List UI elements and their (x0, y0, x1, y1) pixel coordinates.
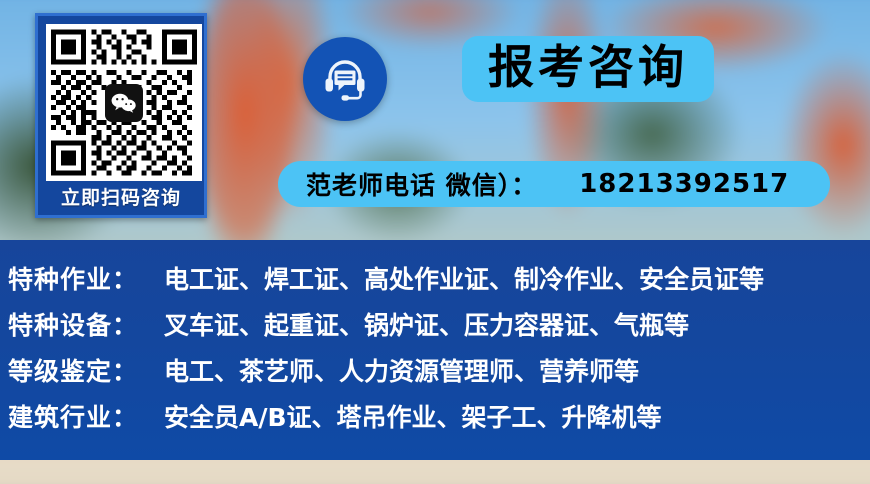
wechat-bubbles-glyph (111, 93, 137, 113)
service-row: 建筑行业： 安全员A/B证、塔吊作业、架子工、升降机等 (8, 398, 870, 444)
contact-pill[interactable]: 范老师电话 微信）： 18213392517 (278, 161, 830, 207)
title-pill: 报考咨询 (462, 36, 714, 102)
qr-code-image[interactable] (46, 24, 202, 181)
headset-support-icon (319, 53, 371, 105)
service-row: 特种作业： 电工证、焊工证、高处作业证、制冷作业、安全员证等 (8, 260, 870, 306)
qr-code-card[interactable]: 立即扫码咨询 (35, 13, 207, 218)
service-category: 特种设备： (8, 306, 150, 342)
service-items: 叉车证、起重证、锅炉证、压力容器证、气瓶等 (164, 306, 689, 342)
headset-support-badge[interactable] (303, 37, 387, 121)
contact-phone-number[interactable]: 18213392517 (579, 169, 789, 199)
service-items: 电工证、焊工证、高处作业证、制冷作业、安全员证等 (164, 260, 764, 296)
service-items: 安全员A/B证、塔吊作业、架子工、升降机等 (164, 398, 662, 434)
contact-label: 范老师电话 微信）： (306, 166, 537, 202)
service-category: 等级鉴定： (8, 352, 150, 388)
wechat-logo-icon (105, 84, 143, 122)
qr-card-caption: 立即扫码咨询 (46, 181, 196, 217)
service-items: 电工、茶艺师、人力资源管理师、营养师等 (164, 352, 639, 388)
page-title: 报考咨询 (488, 40, 688, 94)
service-row: 等级鉴定： 电工、茶艺师、人力资源管理师、营养师等 (8, 352, 870, 398)
service-row: 特种设备： 叉车证、起重证、锅炉证、压力容器证、气瓶等 (8, 306, 870, 352)
service-category: 建筑行业： (8, 398, 150, 434)
services-panel: 特种作业： 电工证、焊工证、高处作业证、制冷作业、安全员证等 特种设备： 叉车证… (0, 240, 870, 460)
promo-poster: 立即扫码咨询 报考咨询 范老师电话 微信）： 18213392517 特种作业：… (0, 0, 870, 484)
service-category: 特种作业： (8, 260, 150, 296)
